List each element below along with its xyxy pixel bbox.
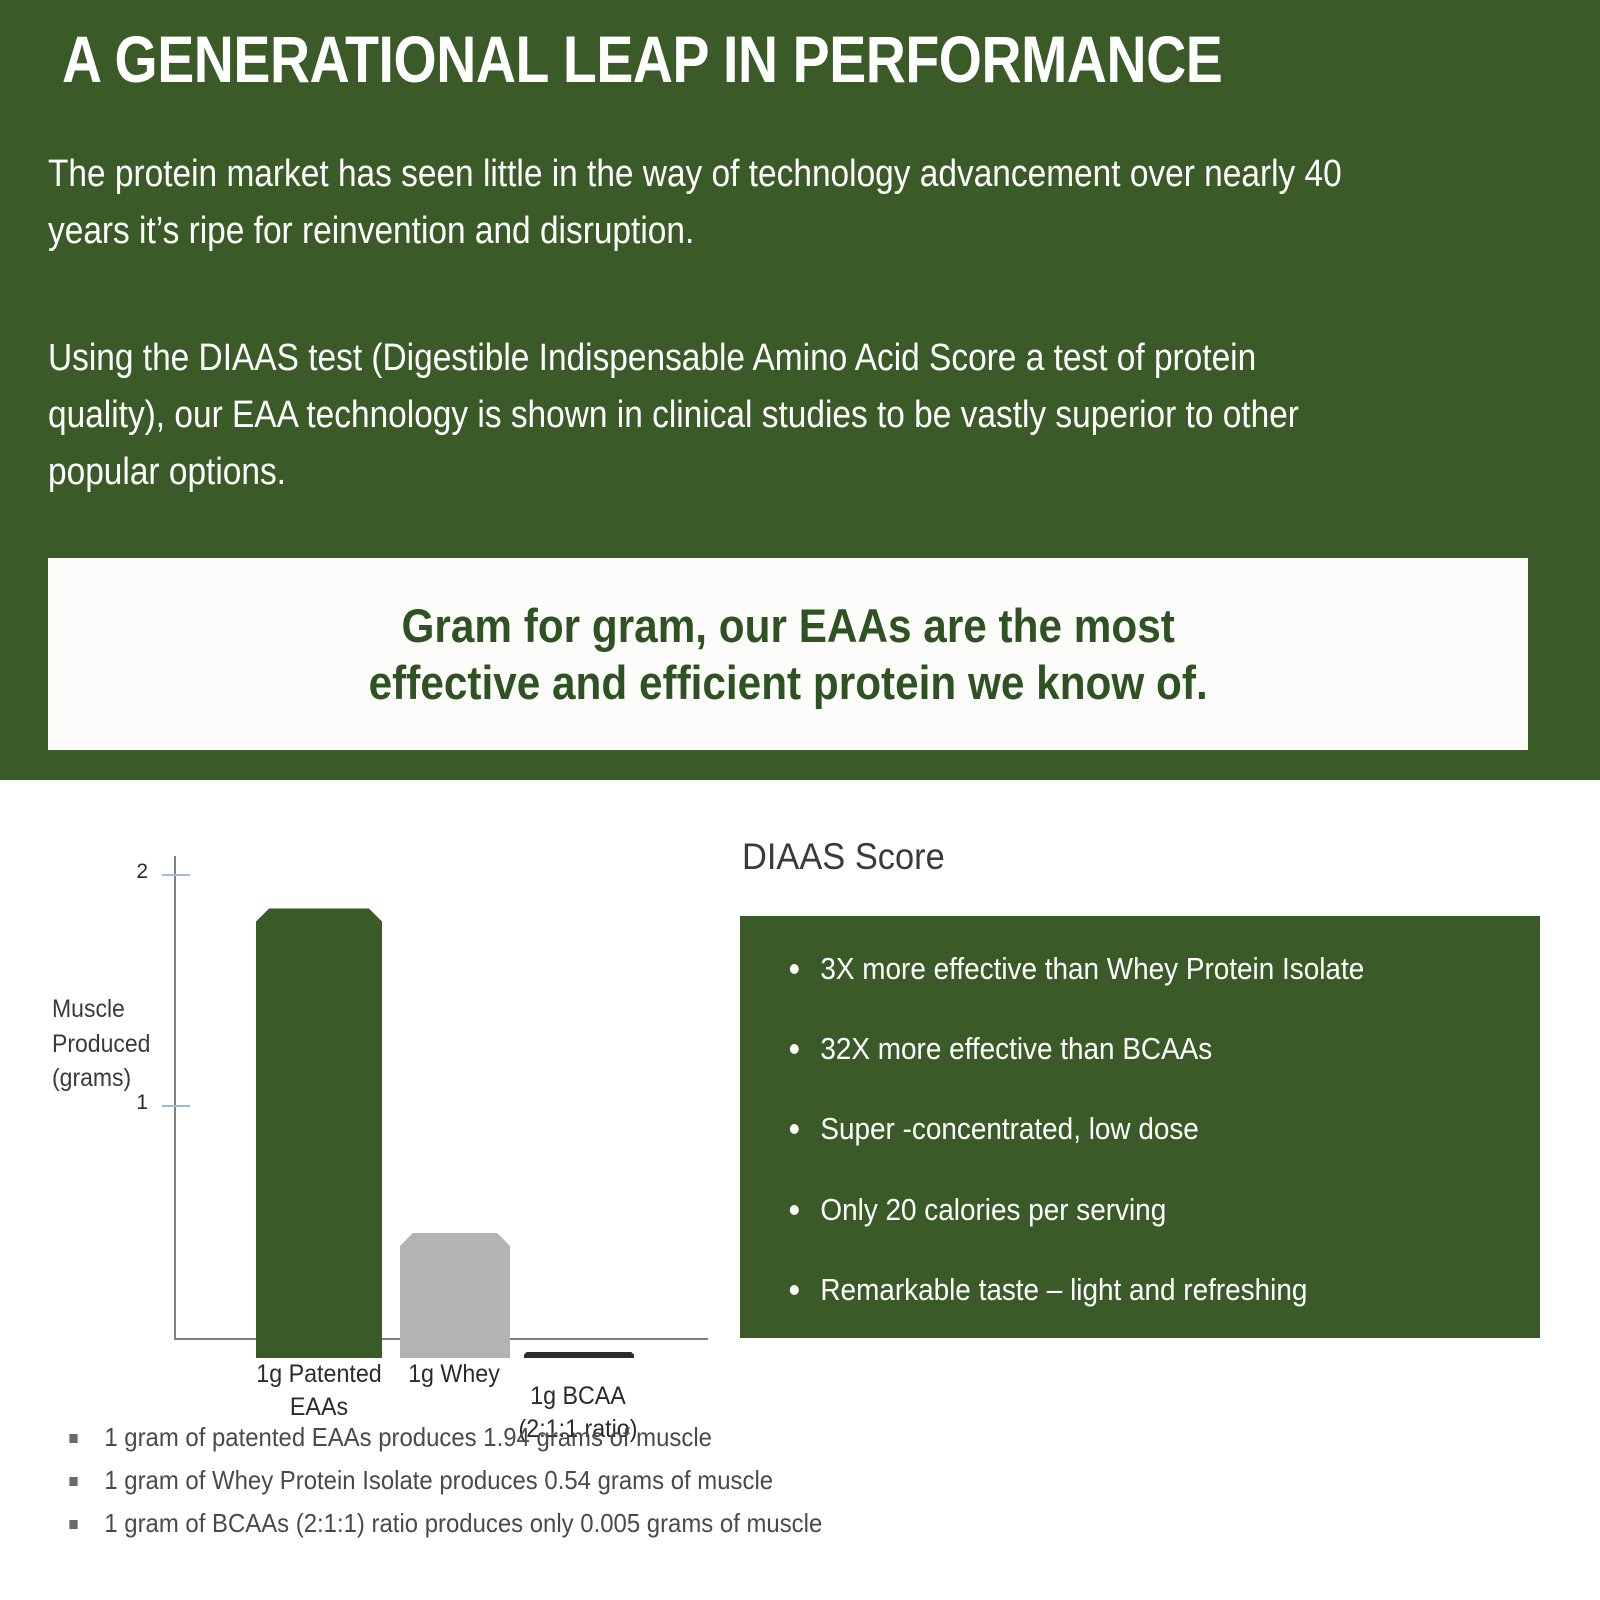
callout-text: Gram for gram, our EAAs are the most eff… — [368, 597, 1207, 712]
hero-paragraph-1: The protein market has seen little in th… — [48, 146, 1368, 260]
hero-section: A GENERATIONAL LEAP IN PERFORMANCE The p… — [0, 0, 1600, 780]
footnote-item-0: 1 gram of patented EAAs produces 1.94 gr… — [62, 1423, 1074, 1452]
footnote-item-1: 1 gram of Whey Protein Isolate produces … — [62, 1466, 1074, 1495]
callout-box: Gram for gram, our EAAs are the most eff… — [48, 558, 1528, 750]
benefit-item-1: 32X more effective than BCAAs — [770, 1030, 1436, 1067]
benefit-item-4: Remarkable taste – light and refreshing — [770, 1271, 1436, 1308]
y-tick-1 — [162, 1105, 190, 1107]
hero-paragraph-2: Using the DIAAS test (Digestible Indispe… — [48, 330, 1368, 501]
benefit-item-2: Super -concentrated, low dose — [770, 1110, 1436, 1147]
y-tick-label-1: 1 — [108, 1091, 148, 1115]
bar-0 — [256, 908, 382, 1358]
infographic-page: A GENERATIONAL LEAP IN PERFORMANCE The p… — [0, 0, 1600, 1600]
bar-1 — [400, 1233, 510, 1358]
y-tick-2 — [162, 874, 190, 876]
benefit-item-3: Only 20 calories per serving — [770, 1191, 1436, 1228]
y-axis-line — [174, 856, 176, 1340]
footnote-list: 1 gram of patented EAAs produces 1.94 gr… — [62, 1423, 1162, 1552]
benefit-item-0: 3X more effective than Whey Protein Isol… — [770, 950, 1436, 987]
benefit-list: 3X more effective than Whey Protein Isol… — [770, 950, 1510, 1308]
diaas-score-heading: DIAAS Score — [742, 836, 945, 878]
footnote-item-2: 1 gram of BCAAs (2:1:1) ratio produces o… — [62, 1509, 1074, 1538]
y-tick-label-2: 2 — [108, 860, 148, 884]
muscle-produced-bar-chart: Muscle Produced (grams) 12 1g Patented E… — [0, 780, 720, 1400]
page-title: A GENERATIONAL LEAP IN PERFORMANCE — [62, 26, 1305, 93]
y-axis-label: Muscle Produced (grams) — [52, 992, 162, 1096]
diaas-score-panel: 3X more effective than Whey Protein Isol… — [740, 916, 1540, 1338]
